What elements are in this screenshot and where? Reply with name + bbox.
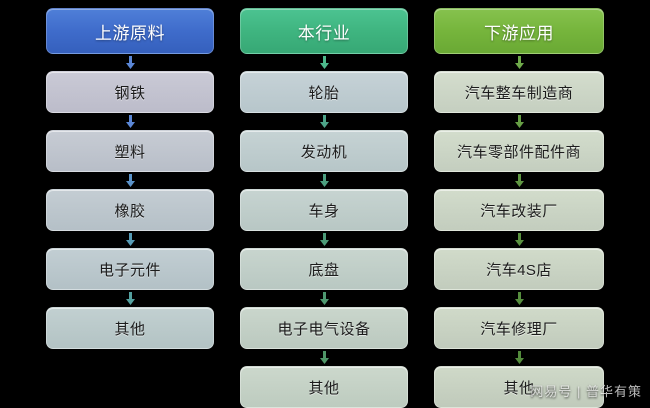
node-wrap-downstream-1: 汽车零部件配件商: [434, 130, 604, 189]
arrow-down-icon: [515, 174, 524, 187]
node-wrap-industry-2: 车身: [240, 189, 408, 248]
node-box-industry-2[interactable]: 车身: [240, 189, 408, 231]
arrow-down-icon: [515, 292, 524, 305]
node-box-industry-1[interactable]: 发动机: [240, 130, 408, 172]
node-wrap-industry-3: 底盘: [240, 248, 408, 307]
node-wrap-upstream-2: 橡胶: [46, 189, 214, 248]
node-wrap-upstream-3: 电子元件: [46, 248, 214, 307]
column-downstream: 下游应用 汽车整车制造商 汽车零部件配件商 汽车改装厂 汽车4S店: [434, 8, 604, 407]
arrow-down-icon: [320, 174, 329, 187]
arrow-down-icon: [126, 174, 135, 187]
node-box-upstream-2[interactable]: 橡胶: [46, 189, 214, 231]
column-industry: 本行业 轮胎 发动机 车身 底盘: [240, 8, 408, 407]
arrow-down-icon: [126, 115, 135, 128]
header-box-upstream[interactable]: 上游原料: [46, 8, 214, 54]
node-box-upstream-3[interactable]: 电子元件: [46, 248, 214, 290]
node-wrap-downstream-5: 其他: [434, 366, 604, 408]
node-wrap-downstream-header: 下游应用: [434, 8, 604, 71]
node-box-downstream-4[interactable]: 汽车修理厂: [434, 307, 604, 349]
arrow-down-icon: [126, 233, 135, 246]
arrow-down-icon: [515, 56, 524, 69]
node-box-downstream-5[interactable]: 其他: [434, 366, 604, 408]
node-wrap-industry-0: 轮胎: [240, 71, 408, 130]
node-wrap-upstream-header: 上游原料: [46, 8, 214, 71]
node-wrap-downstream-4: 汽车修理厂: [434, 307, 604, 366]
node-box-downstream-0[interactable]: 汽车整车制造商: [434, 71, 604, 113]
node-box-industry-0[interactable]: 轮胎: [240, 71, 408, 113]
node-box-industry-5[interactable]: 其他: [240, 366, 408, 408]
arrow-down-icon: [320, 56, 329, 69]
node-box-downstream-2[interactable]: 汽车改装厂: [434, 189, 604, 231]
node-box-industry-4[interactable]: 电子电气设备: [240, 307, 408, 349]
node-wrap-upstream-0: 钢铁: [46, 71, 214, 130]
arrow-down-icon: [515, 351, 524, 364]
node-wrap-industry-5: 其他: [240, 366, 408, 408]
node-box-industry-3[interactable]: 底盘: [240, 248, 408, 290]
arrow-down-icon: [320, 292, 329, 305]
node-wrap-downstream-0: 汽车整车制造商: [434, 71, 604, 130]
node-box-upstream-4[interactable]: 其他: [46, 307, 214, 349]
node-box-downstream-3[interactable]: 汽车4S店: [434, 248, 604, 290]
arrow-down-icon: [126, 292, 135, 305]
industry-chain-diagram: 上游原料 钢铁 塑料 橡胶 电子元件: [0, 0, 650, 407]
node-wrap-industry-4: 电子电气设备: [240, 307, 408, 366]
node-wrap-downstream-2: 汽车改装厂: [434, 189, 604, 248]
arrow-down-icon: [320, 351, 329, 364]
arrow-down-icon: [515, 233, 524, 246]
node-wrap-industry-1: 发动机: [240, 130, 408, 189]
arrow-down-icon: [515, 115, 524, 128]
arrow-down-icon: [126, 56, 135, 69]
node-wrap-upstream-1: 塑料: [46, 130, 214, 189]
node-box-downstream-1[interactable]: 汽车零部件配件商: [434, 130, 604, 172]
header-box-downstream[interactable]: 下游应用: [434, 8, 604, 54]
node-wrap-upstream-4: 其他: [46, 307, 214, 349]
node-wrap-industry-header: 本行业: [240, 8, 408, 71]
arrow-down-icon: [320, 233, 329, 246]
column-upstream: 上游原料 钢铁 塑料 橡胶 电子元件: [46, 8, 214, 407]
node-box-upstream-0[interactable]: 钢铁: [46, 71, 214, 113]
node-box-upstream-1[interactable]: 塑料: [46, 130, 214, 172]
arrow-down-icon: [320, 115, 329, 128]
header-box-industry[interactable]: 本行业: [240, 8, 408, 54]
node-wrap-downstream-3: 汽车4S店: [434, 248, 604, 307]
